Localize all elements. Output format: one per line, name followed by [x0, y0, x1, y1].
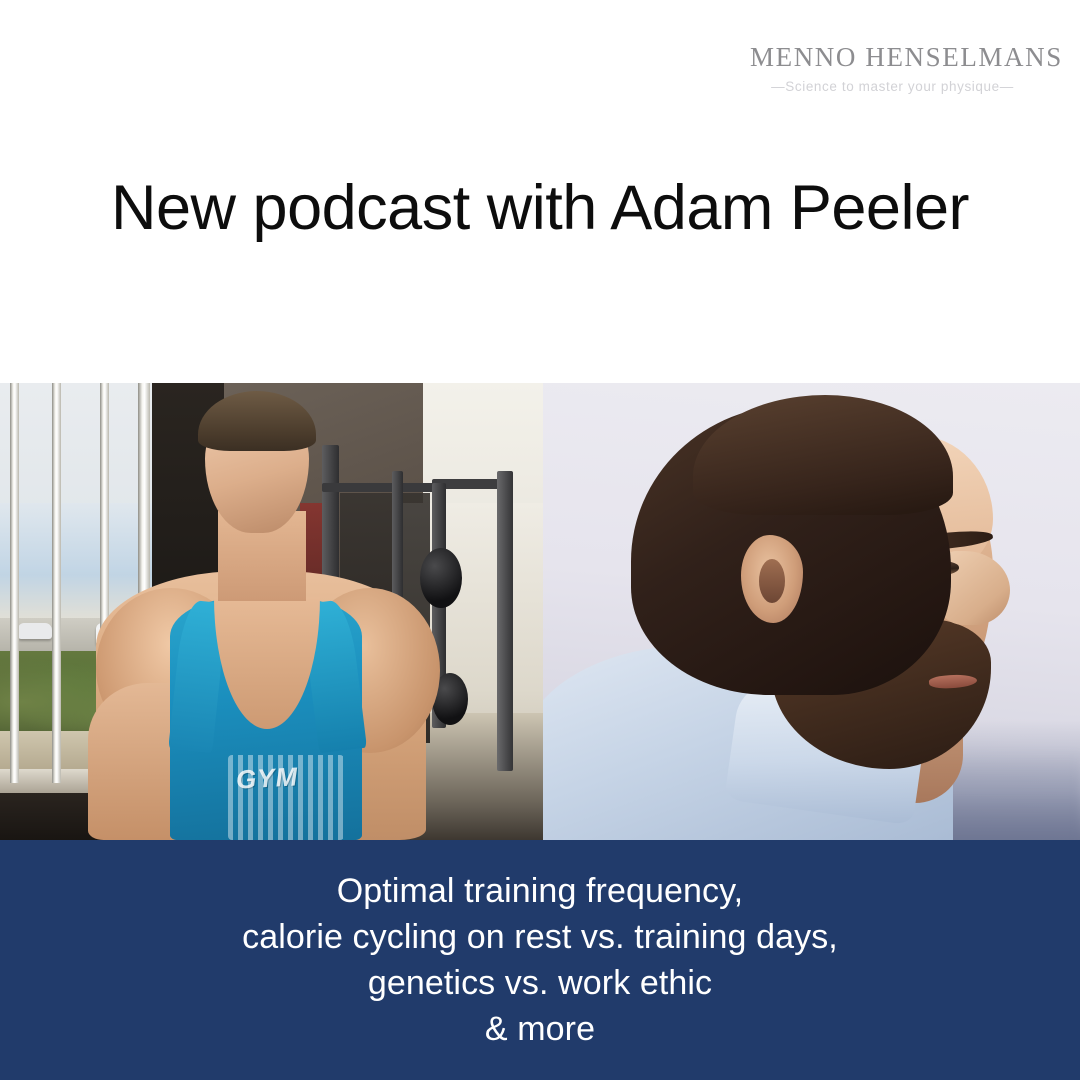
tank-print-label: GYM	[235, 763, 299, 794]
caption-line: Optimal training frequency,	[0, 868, 1080, 914]
window-mullion	[10, 383, 19, 783]
portrait-scene-illustration	[543, 383, 1080, 840]
caption-line: & more	[0, 1006, 1080, 1052]
portrait-ear-inner	[759, 559, 785, 603]
caption-line: calorie cycling on rest vs. training day…	[0, 914, 1080, 960]
gym-weight-plate	[420, 548, 462, 608]
photo-strip: GYM	[0, 383, 1080, 840]
caption-band: Optimal training frequency, calorie cycl…	[0, 840, 1080, 1080]
gym-scene-illustration: GYM	[0, 383, 543, 840]
guest-photo-left: GYM	[0, 383, 543, 840]
outdoor-car	[18, 623, 52, 639]
brand-logo: MENNO HENSELMANS —Science to master your…	[750, 44, 1035, 94]
portrait-hair-top	[693, 395, 953, 515]
guest-photo-right	[543, 383, 1080, 840]
caption-line: genetics vs. work ethic	[0, 960, 1080, 1006]
gym-rack-post	[497, 471, 513, 771]
brand-name: MENNO HENSELMANS	[750, 44, 1035, 71]
window-mullion	[52, 383, 61, 783]
page-title: New podcast with Adam Peeler	[0, 175, 1080, 241]
episode-topics: Optimal training frequency, calorie cycl…	[0, 868, 1080, 1053]
brand-tagline: —Science to master your physique—	[750, 80, 1035, 94]
gym-rack-crossbar	[322, 483, 442, 492]
podcast-announcement-poster: MENNO HENSELMANS —Science to master your…	[0, 0, 1080, 1080]
